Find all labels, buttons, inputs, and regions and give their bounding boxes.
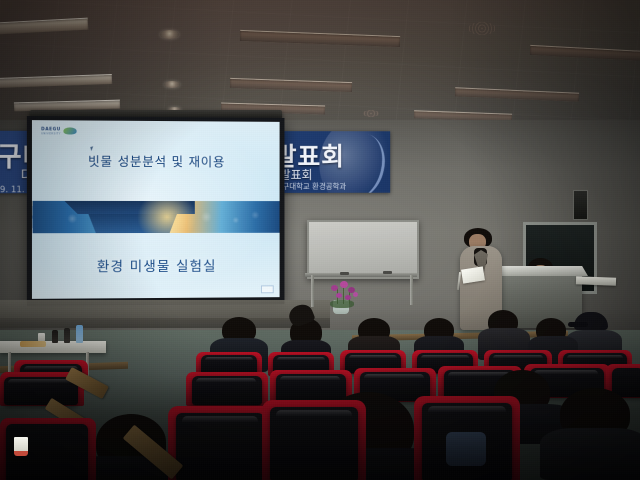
whiteboard-leg (410, 275, 413, 305)
open-binder (576, 276, 616, 285)
projection-screen: DAEGU UNIVERSITY 빗물 성분분석 및 재이용 환경 미생물 실험… (27, 116, 285, 306)
foliage (330, 300, 354, 308)
baseball-cap (574, 312, 608, 330)
whiteboard (307, 220, 419, 279)
slide-logo-sub: UNIVERSITY (41, 132, 61, 135)
snack-tray (20, 341, 46, 347)
lectern-top (490, 266, 588, 276)
wall-base-band (0, 318, 330, 328)
paper-cup-band (14, 451, 28, 456)
slide-corner-badge (261, 285, 274, 293)
whiteboard-marker-icon (383, 271, 392, 274)
table-leg (8, 352, 11, 374)
cap-brim (568, 322, 588, 327)
orchid-bloom (331, 285, 338, 291)
orchid-bloom (340, 281, 348, 288)
whiteboard-marker-icon (340, 272, 349, 275)
orchid-bloom (353, 292, 358, 297)
presentation-slide: DAEGU UNIVERSITY 빗물 성분분석 및 재이용 환경 미생물 실험… (32, 120, 280, 299)
water-bottle (52, 330, 58, 343)
water-bottle (64, 328, 70, 343)
lecture-hall-photo: 구대 발표회 대구 발표회 09. 11. 20(금 : 대구대학교 환경공학과… (0, 0, 640, 480)
orchid-bloom (336, 293, 342, 298)
water-bottle (76, 325, 83, 343)
slide-subtitle: 환경 미생물 실험실 (32, 255, 280, 276)
whiteboard-tray (305, 273, 417, 277)
whiteboard-leg (311, 275, 314, 307)
slide-logo-mark-icon (64, 127, 77, 134)
jeans-shoulder (446, 432, 486, 466)
torso (540, 428, 640, 480)
band-streaks (32, 201, 280, 233)
slide-title: 빗물 성분분석 및 재이용 (32, 150, 280, 170)
slide-decorative-band (32, 201, 280, 233)
wall-speaker (573, 190, 588, 220)
slide-university-logo: DAEGU UNIVERSITY (41, 126, 77, 135)
slide-logo-name: DAEGU (41, 126, 61, 132)
